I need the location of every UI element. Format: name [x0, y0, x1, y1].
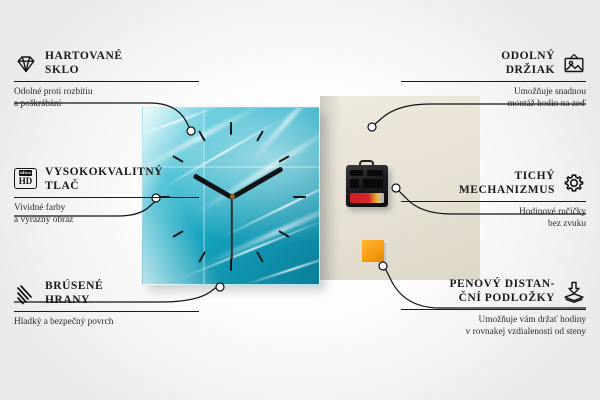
feature-print-desc: Vividné farbya výrazný obraz — [14, 203, 199, 226]
feature-glass-desc: Odolné proti rozbitiua poškrábání — [14, 87, 199, 110]
foam-pad-arrow-icon — [562, 280, 586, 304]
feature-edges-head: BRÚSENÉHRANY — [14, 280, 199, 307]
feature-print-title: VYSOKOKVALITNÝTLAČ — [45, 166, 163, 193]
connector-endpoint-edges — [216, 283, 224, 291]
feature-foam-head: PENOVÝ DISTAN-ČNÍ PODLOŽKY — [401, 278, 586, 305]
picture-frame-icon — [562, 52, 586, 76]
feature-glass-head: HARTOVANÉSKLO — [14, 50, 199, 77]
ultra-hd-icon: ultra HD — [14, 168, 38, 192]
gear-icon — [562, 172, 586, 196]
feature-mechanism-desc: Hodinové ručičkybez zvuku — [401, 207, 586, 230]
feature-foam-rule — [401, 309, 586, 310]
feature-foam-title: PENOVÝ DISTAN-ČNÍ PODLOŽKY — [449, 278, 555, 305]
feature-holder-head: ODOLNÝDRŽIAK — [401, 50, 586, 77]
feature-glass-rule — [14, 81, 199, 82]
feature-print: ultra HD VYSOKOKVALITNÝTLAČ Vividné farb… — [14, 166, 199, 226]
feature-mechanism-title: TICHÝMECHANIZMUS — [459, 170, 555, 197]
connector-endpoint-glass — [187, 127, 195, 135]
feature-edges-desc: Hladký a bezpečný povrch — [14, 317, 199, 328]
feature-print-head: ultra HD VYSOKOKVALITNÝTLAČ — [14, 166, 199, 193]
feature-mechanism-head: TICHÝMECHANIZMUS — [401, 170, 586, 197]
feature-holder-desc: Umožňuje snadnoumontáž hodin na zeď — [401, 87, 586, 110]
feature-holder-title: ODOLNÝDRŽIAK — [501, 50, 555, 77]
feature-edges: BRÚSENÉHRANY Hladký a bezpečný povrch — [14, 280, 199, 329]
connector-endpoint-foam — [379, 262, 387, 270]
feature-holder-rule — [401, 81, 586, 82]
ultra-hd-badge-main: HD — [19, 177, 33, 186]
feature-foam-desc: Umožňuje vám držať hodinyv rovnakej vzdi… — [401, 315, 586, 338]
connector-endpoint-holder — [368, 123, 376, 131]
ground-edges-icon — [14, 282, 38, 306]
infographic-stage: HARTOVANÉSKLO Odolné proti rozbitiua poš… — [0, 0, 600, 400]
connector-endpoint-mechanism — [392, 184, 400, 192]
feature-mechanism: TICHÝMECHANIZMUS Hodinové ručičkybez zvu… — [401, 170, 586, 230]
feature-edges-title: BRÚSENÉHRANY — [45, 280, 103, 307]
feature-glass: HARTOVANÉSKLO Odolné proti rozbitiua poš… — [14, 50, 199, 110]
feature-foam: PENOVÝ DISTAN-ČNÍ PODLOŽKY Umožňuje vám … — [401, 278, 586, 338]
feature-mechanism-rule — [401, 201, 586, 202]
feature-holder: ODOLNÝDRŽIAK Umožňuje snadnoumontáž hodi… — [401, 50, 586, 110]
feature-print-rule — [14, 197, 199, 198]
feature-edges-rule — [14, 311, 199, 312]
diamond-icon — [14, 52, 38, 76]
feature-glass-title: HARTOVANÉSKLO — [45, 50, 123, 77]
